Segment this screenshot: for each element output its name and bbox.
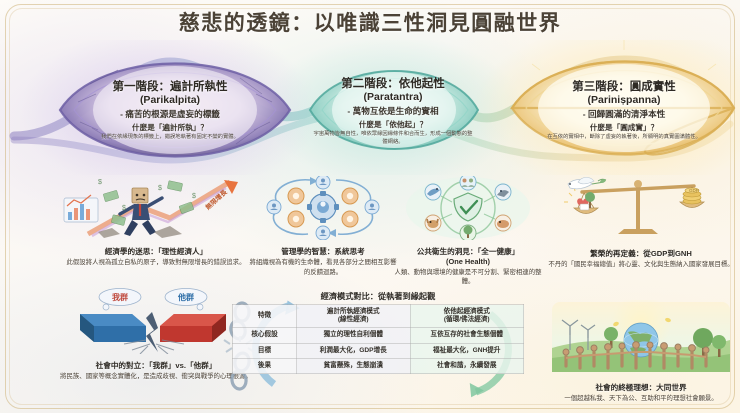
stage3-sanskrit: (Pariniṣpanna) [588,94,661,108]
card6-desc: 一個超越私我、天下為公、互助和平的理想社會願景。 [548,394,734,403]
coin-stack-group: GDP [683,188,701,204]
card-gdp-to-gnh: GDP 繁榮的再定義：從GDP到GNH 不丹的「國民幸福總值」將心靈、文化與生態… [548,172,734,270]
stage2-question: 什麼是「依他起」？ [359,120,427,130]
row2-right: 福祉最大化，GNH提升 [410,343,524,358]
th-right-sub: (循環/佛法經濟) [412,316,523,324]
one-health-circle-illustration [392,176,544,240]
stage1-question: 什麼是「遍計所執」？ [132,123,208,133]
table-row: 後果 貧富懸殊，生態崩潰 社會和諧，永續發展 [233,358,524,373]
them-thought-bubble: 他群 [165,289,207,311]
row2-left: 利潤最大化，GDP增長 [297,343,410,358]
row1-right: 互依互存的社會生態個體 [410,328,524,343]
card2-desc: 將組織視為有機的生命體，看見各部分之間相互影響的反饋迴路。 [248,258,398,277]
global-harmony-illustration [548,300,734,376]
stage-card-paratantra: 第二階段：依他起性 (Paratantra) - 萬物互依是生命的實相 什麼是「… [305,62,481,162]
businessman-growth-illustration: $$$$ 無限增長 [58,176,254,240]
stage1-body: 我們在依緣現象的標籤上，錯誤地執著有固定不變的實體。 [101,134,239,142]
stage3-body: 在互依的實相中，斷除了虛妄的執著後，所顯明的真實圓滿體性。 [547,134,701,142]
svg-text:$: $ [122,205,126,212]
row3-right: 社會和諧，永續發展 [410,358,524,373]
table-row: 目標 利潤最大化，GDP增長 福祉最大化，GNH提升 [233,343,524,358]
card1-caption: 經濟學的迷思：「理性經濟人」 [58,247,254,257]
table-row: 核心假設 獨立的理性自利個體 互依互存的社會生態個體 [233,328,524,343]
balance-scale-illustration: GDP [548,172,734,242]
stage3-subtitle: - 回歸圓滿的清淨本性 [583,109,666,121]
us-thought-bubble: 我群 [99,289,141,311]
card1-desc: 此假設將人視為孤立自私的原子，導致對無限增長的錯誤追求。 [58,258,254,267]
card6-caption: 社會的終極理想：大同世界 [548,383,734,393]
th-left-main: 遍計所執經濟模式 [298,308,408,316]
svg-text:GDP: GDP [689,188,699,193]
stage3-heading: 第三階段：圓成實性 [572,80,676,94]
gear-center [307,191,339,223]
th-feature: 特徵 [233,305,297,328]
row1-feature: 核心假設 [233,328,297,343]
stage3-question: 什麼是「圓成實」？ [590,123,658,133]
table-header-row: 特徵 遍計所執經濟模式 (線性經濟) 依他起經濟模式 (循環/佛法經濟) [233,305,524,328]
stage2-sanskrit: (Paratantra) [364,91,423,105]
row1-left: 獨立的理性自利個體 [297,328,410,343]
th-right: 依他起經濟模式 (循環/佛法經濟) [410,305,524,328]
th-left: 遍計所執經濟模式 (線性經濟) [297,305,410,328]
card-economics-myth: $$$$ 無限增長 經濟學的迷思：「理性經濟人」 此假設將人視為孤立自私的原子，… [58,176,254,268]
card-great-unity: 社會的終極理想：大同世界 一個超越私我、天下為公、互助和平的理想社會願景。 [548,300,734,404]
systems-gears-illustration [248,176,398,240]
card-management-systems: 管理學的智慧：系統思考 將組織視為有機的生命體，看見各部分之間相互影響的反饋迴路… [248,176,398,277]
stage2-subtitle: - 萬物互依是生命的實相 [347,106,438,118]
stage2-heading: 第二階段：依他起性 [341,77,445,91]
stage1-heading: 第一階段：遍計所執性 [113,80,228,94]
card2-caption: 管理學的智慧：系統思考 [248,247,398,257]
row3-feature: 後果 [233,358,297,373]
table-title: 經濟模式對比：從執著到緣起觀 [232,290,524,302]
svg-text:$: $ [192,193,196,200]
infographic-canvas: 慈悲的透鏡：以唯識三性洞見圓融世界 [0,0,740,413]
them-label: 他群 [177,292,194,302]
dove-icon [568,177,606,188]
row2-feature: 目標 [233,343,297,358]
stage1-sanskrit: (Parikalpita) [140,94,200,108]
th-left-sub: (線性經濟) [298,316,408,324]
card4-caption: 繁榮的再定義：從GDP到GNH [548,249,734,259]
us-label: 我群 [112,292,128,302]
svg-text:$: $ [158,185,162,192]
page-title: 慈悲的透鏡：以唯識三性洞見圓融世界 [0,7,740,37]
card-one-health: 公共衛生的洞見：「全一健康」 (One Health) 人類、動物與環境的健康是… [392,176,544,286]
stage-card-parikalpita: 第一階段：遍計所執性 (Parikalpita) - 痛苦的根源是虛妄的標籤 什… [62,55,278,167]
blue-block [80,314,146,342]
red-block [160,314,226,342]
th-right-main: 依他起經濟模式 [412,308,523,316]
stage2-body: 宇宙萬物皆無自性，唯依眾緣因緣條件和合而生，形成一個動態的整體網絡。 [311,131,475,147]
card3-caption: 公共衛生的洞見：「全一健康」 [392,247,544,257]
card4-desc: 不丹的「國民幸福總值」將心靈、文化與生態納入國家發展目標。 [548,260,734,269]
row3-left: 貧富懸殊，生態崩潰 [297,358,410,373]
stage1-subtitle: - 痛苦的根源是虛妄的標籤 [120,109,220,121]
comparison-table-wrapper: 經濟模式對比：從執著到緣起觀 特徵 遍計所執經濟模式 (線性經濟) 依他起經濟模… [232,290,524,374]
stage-card-parinispanna: 第三階段：圓成實性 (Pariniṣpanna) - 回歸圓滿的清淨本性 什麼是… [518,55,730,167]
card3-caption2: (One Health) [392,257,544,266]
economic-comparison-table: 特徵 遍計所執經濟模式 (線性經濟) 依他起經濟模式 (循環/佛法經濟) 核心假… [232,304,524,374]
svg-text:$: $ [98,179,102,186]
card3-desc: 人類、動物與環境的健康是不可分割、緊密相連的整體。 [392,268,544,287]
